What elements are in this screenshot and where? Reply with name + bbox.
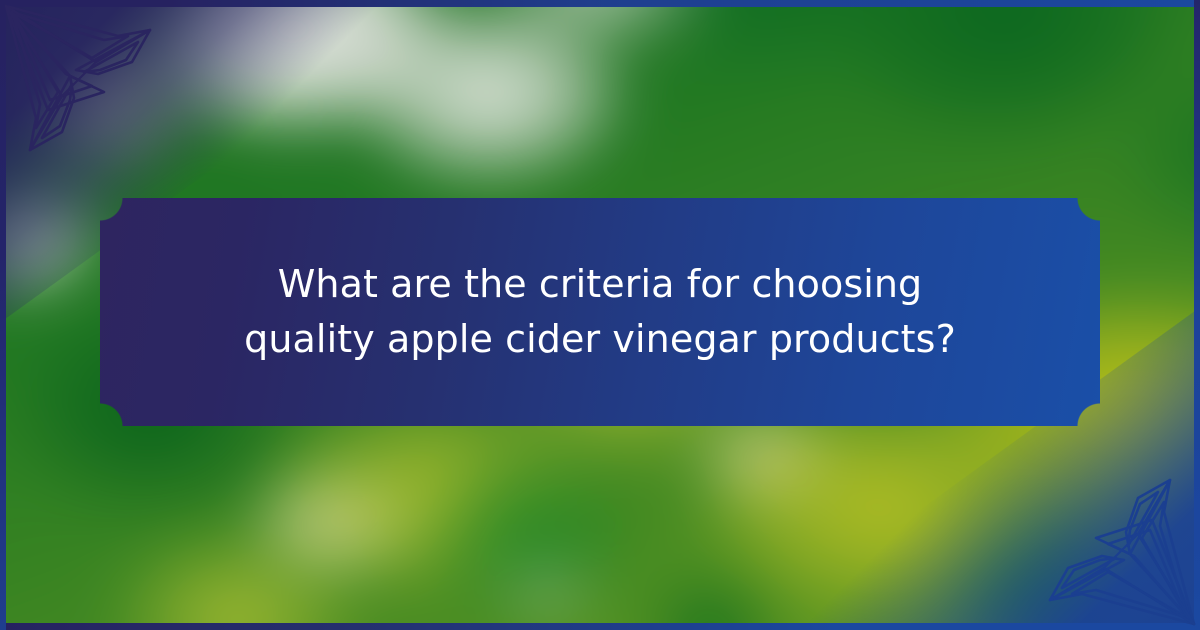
question-card-graphic: What are the criteria for choosing quali… [0,0,1200,630]
question-card: What are the criteria for choosing quali… [100,198,1100,426]
question-text: What are the criteria for choosing quali… [180,257,1020,367]
